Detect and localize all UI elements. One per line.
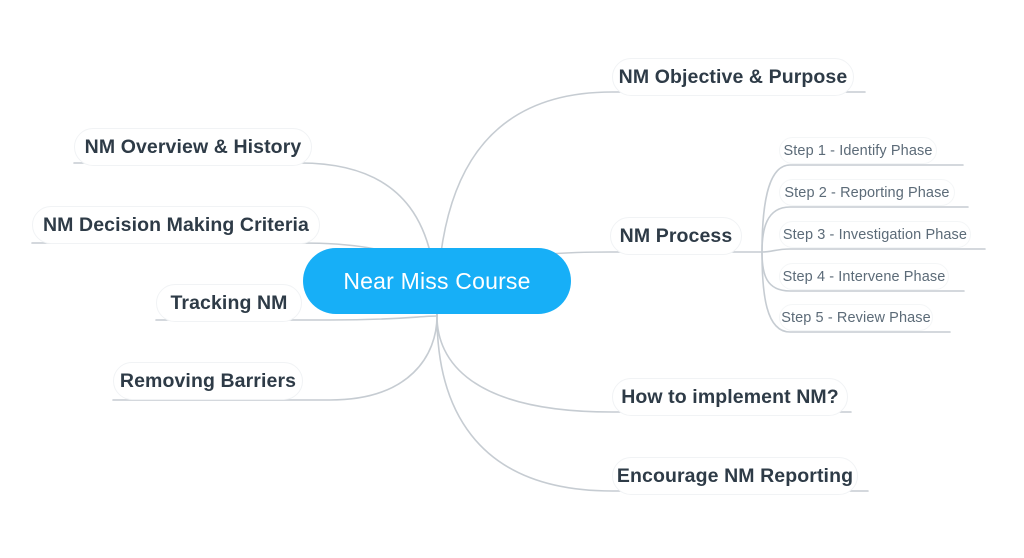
branch-encourage-nm-reporting[interactable]: Encourage NM Reporting <box>612 457 858 495</box>
branch-label: NM Overview & History <box>85 136 302 159</box>
sub-branch-label: Step 3 - Investigation Phase <box>783 227 967 243</box>
branch-label: NM Objective & Purpose <box>619 66 848 89</box>
branch-nm-overview-history[interactable]: NM Overview & History <box>74 128 312 166</box>
sub-branch-label: Step 5 - Review Phase <box>781 310 931 326</box>
sub-branch-step-1-identify-phase[interactable]: Step 1 - Identify Phase <box>779 137 937 164</box>
sub-branch-step-5-review-phase[interactable]: Step 5 - Review Phase <box>779 304 933 331</box>
mindmap-canvas: Near Miss Course NM Overview & History N… <box>0 0 1024 558</box>
branch-label: Encourage NM Reporting <box>617 465 853 488</box>
branch-nm-decision-making-criteria[interactable]: NM Decision Making Criteria <box>32 206 320 244</box>
root-node-label: Near Miss Course <box>343 268 530 295</box>
sub-branch-label: Step 4 - Intervene Phase <box>783 269 946 285</box>
branch-label: NM Process <box>620 225 733 248</box>
branch-label: NM Decision Making Criteria <box>43 214 309 237</box>
sub-branch-step-3-investigation-phase[interactable]: Step 3 - Investigation Phase <box>779 221 971 248</box>
branch-how-to-implement-nm[interactable]: How to implement NM? <box>612 378 848 416</box>
branch-label: Tracking NM <box>170 292 287 315</box>
sub-branch-step-2-reporting-phase[interactable]: Step 2 - Reporting Phase <box>779 179 955 206</box>
branch-label: Removing Barriers <box>120 370 296 393</box>
sub-branch-step-4-intervene-phase[interactable]: Step 4 - Intervene Phase <box>779 263 949 290</box>
branch-label: How to implement NM? <box>621 386 839 409</box>
branch-nm-objective-purpose[interactable]: NM Objective & Purpose <box>612 58 854 96</box>
sub-branch-label: Step 1 - Identify Phase <box>784 143 933 159</box>
branch-nm-process[interactable]: NM Process <box>610 217 742 255</box>
sub-branch-label: Step 2 - Reporting Phase <box>784 185 949 201</box>
root-node-near-miss-course[interactable]: Near Miss Course <box>303 248 571 314</box>
edge-process-to-step-3 <box>762 249 985 252</box>
branch-tracking-nm[interactable]: Tracking NM <box>156 284 302 322</box>
branch-removing-barriers[interactable]: Removing Barriers <box>113 362 303 400</box>
